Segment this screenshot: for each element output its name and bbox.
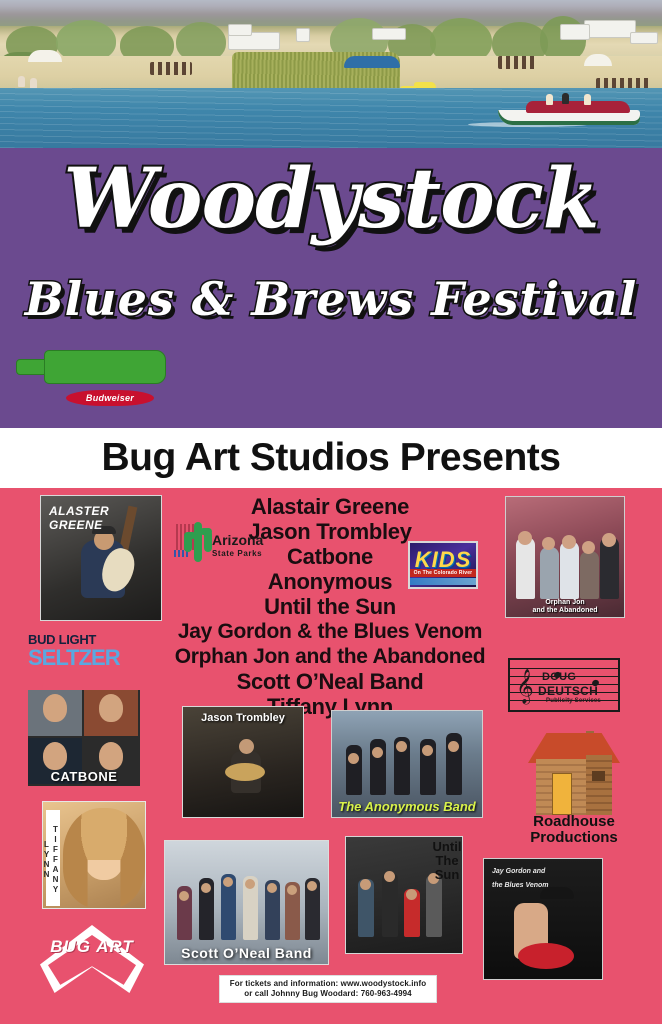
- band-member: [560, 541, 579, 599]
- band-member-head: [422, 745, 433, 756]
- band-member-head: [396, 741, 407, 752]
- band-member-head: [602, 533, 616, 547]
- presents-banner: Bug Art Studios Presents: [0, 428, 662, 488]
- catbone-quadrant: [28, 690, 82, 736]
- artist-item: Scott O’Neal Band: [120, 669, 540, 694]
- publicity-services-label: Publicity Services: [546, 698, 601, 704]
- artist-item: Alastair Greene: [120, 494, 540, 519]
- cabin-wall-right: [586, 755, 612, 815]
- photo-catbone: CATBONE: [28, 690, 140, 786]
- boat-deck: [526, 101, 630, 113]
- band-member-head: [245, 879, 255, 889]
- cabin-window-icon: [592, 771, 605, 781]
- speed-boat: [498, 96, 640, 126]
- cabin-door-icon: [552, 773, 572, 815]
- catbone-caption: CATBONE: [28, 769, 140, 784]
- rv-trailer: [560, 24, 590, 40]
- catbone-face: [43, 742, 67, 770]
- orphan-jon-caption-line1: Orphan Jon: [506, 599, 624, 607]
- rv-trailer: [584, 20, 636, 38]
- photo-tiffany-lynn: TIFFANY LYNN: [42, 801, 146, 909]
- scott-oneal-caption: Scott O’Neal Band: [165, 945, 328, 961]
- band-member-head: [542, 537, 555, 550]
- doug-deutsch-logo: 𝄞 DOUG DEUTSCH Publicity Services: [508, 658, 620, 712]
- band-member-head: [287, 885, 297, 895]
- beer-bottle-icon: [16, 350, 166, 384]
- band-member-head: [518, 531, 532, 545]
- until-line3: Sun: [418, 868, 476, 882]
- beach-umbrella: [28, 50, 62, 62]
- band-member-head: [360, 879, 371, 890]
- until-the-sun-label: Until The Sun: [418, 840, 476, 882]
- musician-head: [239, 739, 254, 754]
- artist-item: Anonymous: [120, 569, 540, 594]
- festival-title: Woodystock: [0, 156, 662, 242]
- doug-label: DOUG: [542, 671, 576, 683]
- beach-crowd: [150, 62, 192, 75]
- artist-item: Until the Sun: [120, 594, 540, 619]
- band-member-head: [372, 747, 383, 758]
- deutsch-label: DEUTSCH: [538, 684, 598, 698]
- until-line2: The: [418, 854, 476, 868]
- catbone-face: [99, 694, 123, 722]
- band-member-head: [448, 741, 459, 752]
- jay-gordon-caption-line1: Jay Gordon and: [492, 868, 545, 875]
- band-member-head: [406, 889, 417, 900]
- band-member: [540, 547, 559, 599]
- presents-banner-text: Bug Art Studios Presents: [102, 436, 561, 480]
- musician-guitar: [518, 943, 574, 969]
- person: [18, 76, 25, 87]
- photo-jason-trombley: Jason Trombley: [182, 706, 304, 818]
- band-member-head: [201, 883, 211, 893]
- bug-art-wordmark: BUG ART: [40, 939, 144, 955]
- budweiser-logo: Budweiser: [66, 390, 154, 406]
- photo-caption: Orphan Jon and the Abandoned: [506, 599, 624, 615]
- until-line1: Until: [418, 840, 476, 854]
- band-member-head: [179, 891, 189, 901]
- band-member: [426, 875, 442, 937]
- title-band: Woodystock Blues & Brews Festival Budwei…: [0, 148, 662, 428]
- photo-anonymous-band: The Anonymous Band: [331, 710, 483, 818]
- portrait-hair: [63, 808, 145, 908]
- treble-clef-icon: 𝄞: [516, 672, 534, 702]
- band-member: [580, 551, 599, 599]
- roadhouse-line1: Roadhouse: [524, 813, 624, 830]
- lineup-area: ALASTER GREENE Arizona State Parks KIDS …: [0, 488, 662, 1016]
- contact-line2: or call Johnny Bug Woodard: 760-963-4994: [244, 989, 411, 999]
- bud-light-seltzer-logo: BUD LIGHT SELTZER: [28, 632, 110, 674]
- rv-trailer: [296, 28, 310, 42]
- boat-passenger: [584, 94, 591, 105]
- band-member-head: [562, 535, 576, 549]
- blue-canopy: [344, 56, 400, 68]
- contact-line1: For tickets and information: www.woodyst…: [230, 979, 427, 989]
- catbone-quadrant: [84, 690, 138, 736]
- band-member-head: [384, 871, 395, 882]
- bottom-strip: [0, 1016, 662, 1024]
- band-member-head: [223, 877, 233, 887]
- band-member: [516, 537, 535, 599]
- rv-trailer: [228, 24, 252, 36]
- bug-art-logo: BUG ART: [40, 925, 144, 993]
- band-member: [382, 873, 398, 937]
- rv-trailer: [372, 28, 406, 40]
- anonymous-caption: The Anonymous Band: [332, 799, 482, 814]
- band-member-head: [348, 753, 359, 764]
- band-member-head: [307, 881, 317, 891]
- boat-passenger: [546, 94, 553, 105]
- bottle-body: [44, 350, 166, 384]
- boat-passenger: [562, 93, 569, 104]
- musician-guitar: [225, 763, 265, 781]
- contact-info-box: For tickets and information: www.woodyst…: [219, 975, 437, 1003]
- festival-poster: Woodystock Blues & Brews Festival Budwei…: [0, 0, 662, 1024]
- vehicle: [630, 32, 658, 44]
- roadhouse-line2: Productions: [524, 829, 624, 846]
- artist-lineup-list: Alastair Greene Jason Trombley Catbone A…: [120, 494, 540, 719]
- artist-item: Jay Gordon & the Blues Venom: [120, 619, 540, 644]
- band-member-head: [582, 541, 595, 554]
- orphan-jon-caption-line2: and the Abandoned: [506, 607, 624, 615]
- hero-photo: [0, 0, 662, 148]
- jay-gordon-caption-line2: the Blues Venom: [492, 882, 549, 889]
- artist-item: Orphan Jon and the Abandoned: [120, 644, 540, 669]
- photo-jay-gordon: Jay Gordon and the Blues Venom: [483, 858, 603, 980]
- photo-scott-oneal-band: Scott O’Neal Band: [164, 840, 329, 965]
- artist-item: Catbone: [120, 544, 540, 569]
- catbone-face: [43, 694, 67, 722]
- beach-crowd: [498, 56, 538, 69]
- catbone-face: [99, 742, 123, 770]
- roadhouse-productions-logo: Roadhouse Productions: [524, 731, 624, 835]
- photo-orphan-jon: Orphan Jon and the Abandoned: [505, 496, 625, 618]
- jason-caption: Jason Trombley: [183, 712, 303, 724]
- band-member-head: [267, 883, 277, 893]
- artist-item: Jason Trombley: [120, 519, 540, 544]
- festival-subtitle: Blues & Brews Festival: [0, 272, 662, 326]
- tiffany-caption: TIFFANY LYNN: [46, 810, 60, 906]
- seltzer-line2: SELTZER: [28, 648, 110, 668]
